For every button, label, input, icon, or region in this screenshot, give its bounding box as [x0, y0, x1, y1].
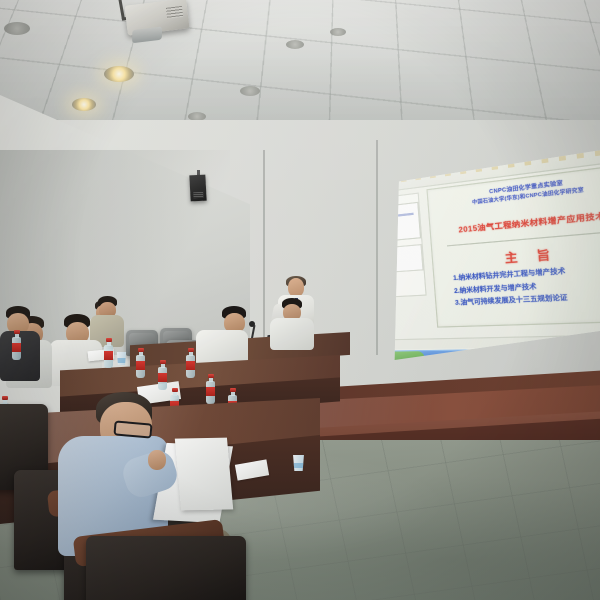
wall-speaker: [189, 175, 206, 202]
water-bottle-4[interactable]: [186, 348, 195, 378]
downlight-1-icon: [4, 22, 30, 35]
water-bottle-1[interactable]: [104, 338, 113, 368]
water-bottle-2[interactable]: [136, 348, 145, 378]
wall-seam-right: [376, 140, 378, 355]
current-slide: CNPC油田化学重点实验室 中国石油大学(华东)和CNPC油田化学研究室 201…: [426, 163, 600, 328]
reader-hand: [148, 450, 166, 470]
downlight-6-icon: [240, 86, 260, 96]
attendee-1: [0, 306, 46, 378]
projected-desktop: CNPC油田化学重点实验室 中国石油大学(华东)和CNPC油田化学研究室 201…: [386, 150, 600, 360]
projector-vent: [166, 6, 183, 19]
attendee-4-torso: [270, 318, 314, 350]
water-bottle-7[interactable]: [12, 330, 21, 360]
downlight-2-icon: [104, 66, 134, 82]
reader-handout-page-2[interactable]: [175, 438, 233, 511]
wall-seam-left: [263, 150, 265, 340]
reader-chair-back[interactable]: [86, 536, 246, 600]
downlight-10-icon: [330, 28, 346, 36]
projection-screen: CNPC油田化学重点实验室 中国石油大学(华东)和CNPC油田化学研究室 201…: [386, 150, 600, 360]
attendee-4: [268, 298, 320, 350]
slide-title: 2015油气工程纳米材料增产应用技术: [430, 205, 600, 237]
attendee-5: [196, 306, 256, 364]
conference-room-photo: CNPC油田化学重点实验室 中国石油大学(华东)和CNPC油田化学研究室 201…: [0, 0, 600, 600]
slide-bullet-list: 1.纳米材料钻井完井工程与增产技术 2.纳米材料开发与增产技术 3.油气可持续发…: [445, 261, 600, 310]
water-bottle-3[interactable]: [158, 360, 167, 390]
downlight-9-icon: [286, 40, 304, 49]
reader-eyeglasses-icon: [113, 420, 152, 438]
downlight-3-icon: [72, 98, 96, 111]
